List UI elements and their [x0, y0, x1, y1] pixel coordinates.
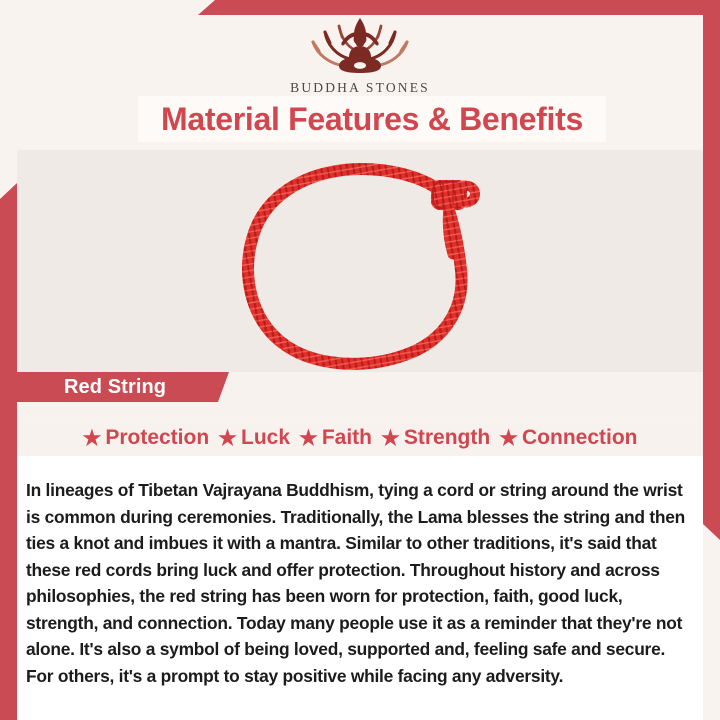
feature-label: Strength: [404, 426, 490, 450]
red-braided-string-bracelet-icon: [229, 158, 491, 370]
page-title-band: Material Features & Benefits: [138, 96, 606, 142]
star-icon: ★: [83, 428, 102, 449]
star-icon: ★: [381, 428, 400, 449]
feature-list: ★ Protection ★ Luck ★ Faith ★ Strength ★…: [17, 420, 703, 456]
brand-name: BUDDHA STONES: [0, 80, 720, 96]
feature-item-strength: ★ Strength: [381, 426, 490, 450]
feature-item-connection: ★ Connection: [499, 426, 637, 450]
left-red-accent-bar: [0, 183, 17, 720]
description-text: In lineages of Tibetan Vajrayana Buddhis…: [26, 477, 694, 689]
feature-label: Connection: [522, 426, 638, 450]
product-name: Red String: [64, 376, 166, 399]
star-icon: ★: [299, 428, 318, 449]
feature-item-faith: ★ Faith: [299, 426, 372, 450]
brand-logo: BUDDHA STONES: [0, 12, 720, 96]
feature-label: Protection: [105, 426, 209, 450]
feature-item-luck: ★ Luck: [218, 426, 290, 450]
lotus-meditation-icon: [295, 12, 425, 78]
star-icon: ★: [218, 428, 237, 449]
infographic-page: BUDDHA STONES Material Features & Benefi…: [0, 0, 720, 720]
feature-label: Faith: [322, 426, 372, 450]
feature-label: Luck: [241, 426, 290, 450]
feature-item-protection: ★ Protection: [83, 426, 210, 450]
star-icon: ★: [499, 428, 518, 449]
product-name-banner: Red String: [0, 372, 229, 402]
product-image-area: [17, 150, 703, 372]
description-area: In lineages of Tibetan Vajrayana Buddhis…: [17, 456, 703, 720]
page-title: Material Features & Benefits: [161, 101, 583, 138]
